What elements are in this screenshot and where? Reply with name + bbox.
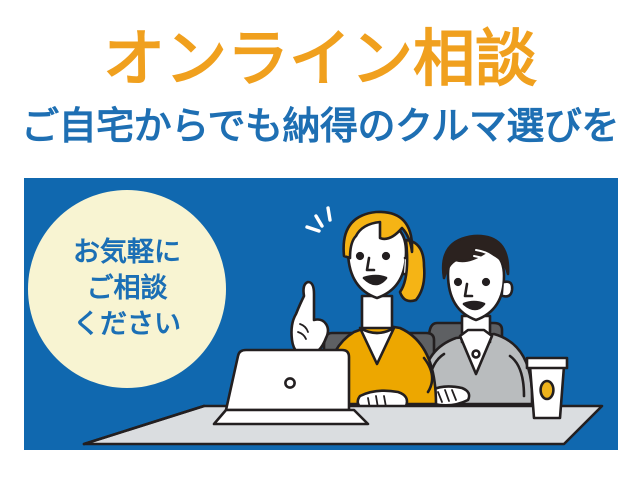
woman-neck [362, 296, 392, 328]
badge-line-1: お気軽に [73, 235, 181, 271]
badge-line-3: ください [73, 307, 181, 343]
laptop-camera-dot [285, 378, 294, 387]
woman-eye-right [383, 253, 389, 259]
badge-text: お気軽に ご相談 ください [28, 190, 226, 388]
woman-eye-left [357, 253, 363, 259]
cup-lid [527, 358, 567, 368]
sparkle-marks [307, 208, 330, 231]
coffee-cup [527, 358, 567, 418]
man-ear [503, 282, 512, 297]
page-title: オンライン相談 [0, 24, 640, 94]
cup-logo [541, 381, 554, 399]
badge-line-2: ご相談 [87, 271, 168, 307]
laptop [214, 350, 368, 424]
pointing-hand [292, 282, 329, 356]
man-eye-left [455, 279, 461, 285]
page-subtitle: ご自宅からでも納得のクルマ選びを [0, 102, 640, 150]
man-figure [422, 236, 532, 405]
man-eye-right [483, 279, 489, 285]
man-shirt-button [473, 351, 480, 358]
laptop-base [214, 410, 368, 424]
headline-area: オンライン相談 ご自宅からでも納得のクルマ選びを [0, 0, 640, 178]
online-consultation-banner: オンライン相談 ご自宅からでも納得のクルマ選びを [0, 0, 640, 480]
illustration-panel: お気軽に ご相談 ください [24, 178, 618, 450]
